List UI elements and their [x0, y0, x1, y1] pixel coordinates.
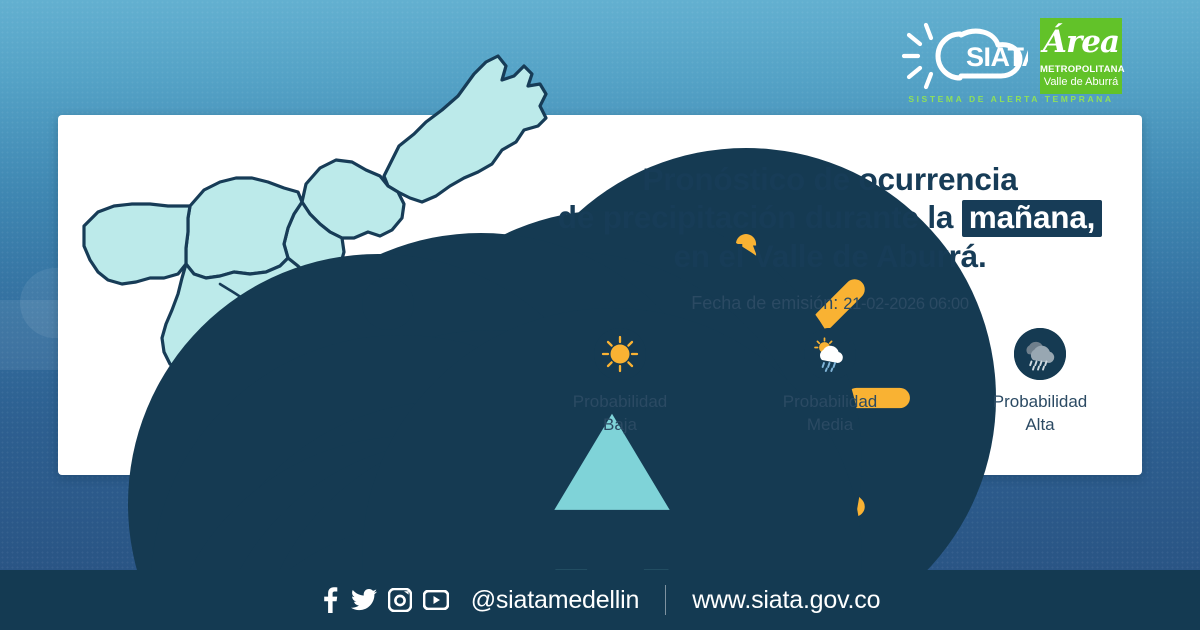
social-handle[interactable]: @siatamedellin — [471, 586, 640, 615]
legend-label-alta: Probabilidad Alta — [950, 390, 1130, 436]
siata-logo-icon: SIATA — [898, 18, 1028, 94]
infographic-root: SIATA Área METROPOLITANA Valle de Aburrá… — [0, 0, 1200, 630]
title-line-2-text: de precipitación durante la — [558, 199, 953, 235]
facebook-icon[interactable] — [320, 587, 340, 613]
area-metropolitana-logo: Área METROPOLITANA Valle de Aburrá — [1040, 18, 1122, 94]
area-logo-line1: METROPOLITANA — [1040, 64, 1122, 75]
title-highlight-badge: mañana, — [962, 200, 1102, 237]
cloud-rain-icon — [1014, 328, 1066, 380]
legend-label-baja-line2: Baja — [530, 413, 710, 436]
legend-label-baja: Probabilidad Baja — [530, 390, 710, 436]
footer-divider — [665, 585, 666, 615]
legend-label-media: Probabilidad Media — [740, 390, 920, 436]
youtube-icon[interactable] — [423, 590, 449, 610]
legend-label-alta-line1: Probabilidad — [950, 390, 1130, 413]
sun-icon — [594, 328, 646, 380]
svg-text:SIATA: SIATA — [966, 42, 1028, 72]
title-line-2: de precipitación durante la mañana, — [520, 198, 1140, 237]
compass-north-icon: N — [362, 278, 414, 330]
emission-date-value: 21-02-2026 06:00 — [843, 295, 968, 313]
area-logo-script: Área — [1040, 20, 1122, 64]
social-icons — [320, 587, 449, 613]
legend-item-media: Probabilidad Media — [740, 328, 920, 436]
instagram-icon[interactable] — [388, 588, 412, 612]
legend-label-media-line2: Media — [740, 413, 920, 436]
forecast-panel: Pronóstico de ocurrencia de precipitació… — [520, 160, 1140, 460]
website-url[interactable]: www.siata.gov.co — [692, 586, 880, 615]
legend-label-baja-line1: Probabilidad — [530, 390, 710, 413]
siata-tagline: SISTEMA DE ALERTA TEMPRANA — [900, 94, 1122, 104]
sun-cloud-rain-icon — [804, 328, 856, 380]
title-line-3: en el Valle de Aburrá. — [520, 237, 1140, 275]
emission-date-label: Fecha de emisión: — [691, 293, 838, 313]
footer-bar: @siatamedellin www.siata.gov.co — [0, 570, 1200, 630]
probability-legend: Probabilidad Baja — [530, 328, 1130, 436]
area-logo-line2: Valle de Aburrá — [1040, 76, 1122, 88]
legend-label-media-line1: Probabilidad — [740, 390, 920, 413]
legend-label-alta-line2: Alta — [950, 413, 1130, 436]
twitter-icon[interactable] — [351, 589, 377, 611]
title-line-1: Pronóstico de ocurrencia — [520, 160, 1140, 198]
emission-date: Fecha de emisión: 21-02-2026 06:00 — [520, 293, 1140, 314]
legend-item-alta: Probabilidad Alta — [950, 328, 1130, 436]
valle-de-aburra-map: N — [54, 26, 554, 586]
page-title: Pronóstico de ocurrencia de precipitació… — [520, 160, 1140, 275]
legend-item-baja: Probabilidad Baja — [530, 328, 710, 436]
